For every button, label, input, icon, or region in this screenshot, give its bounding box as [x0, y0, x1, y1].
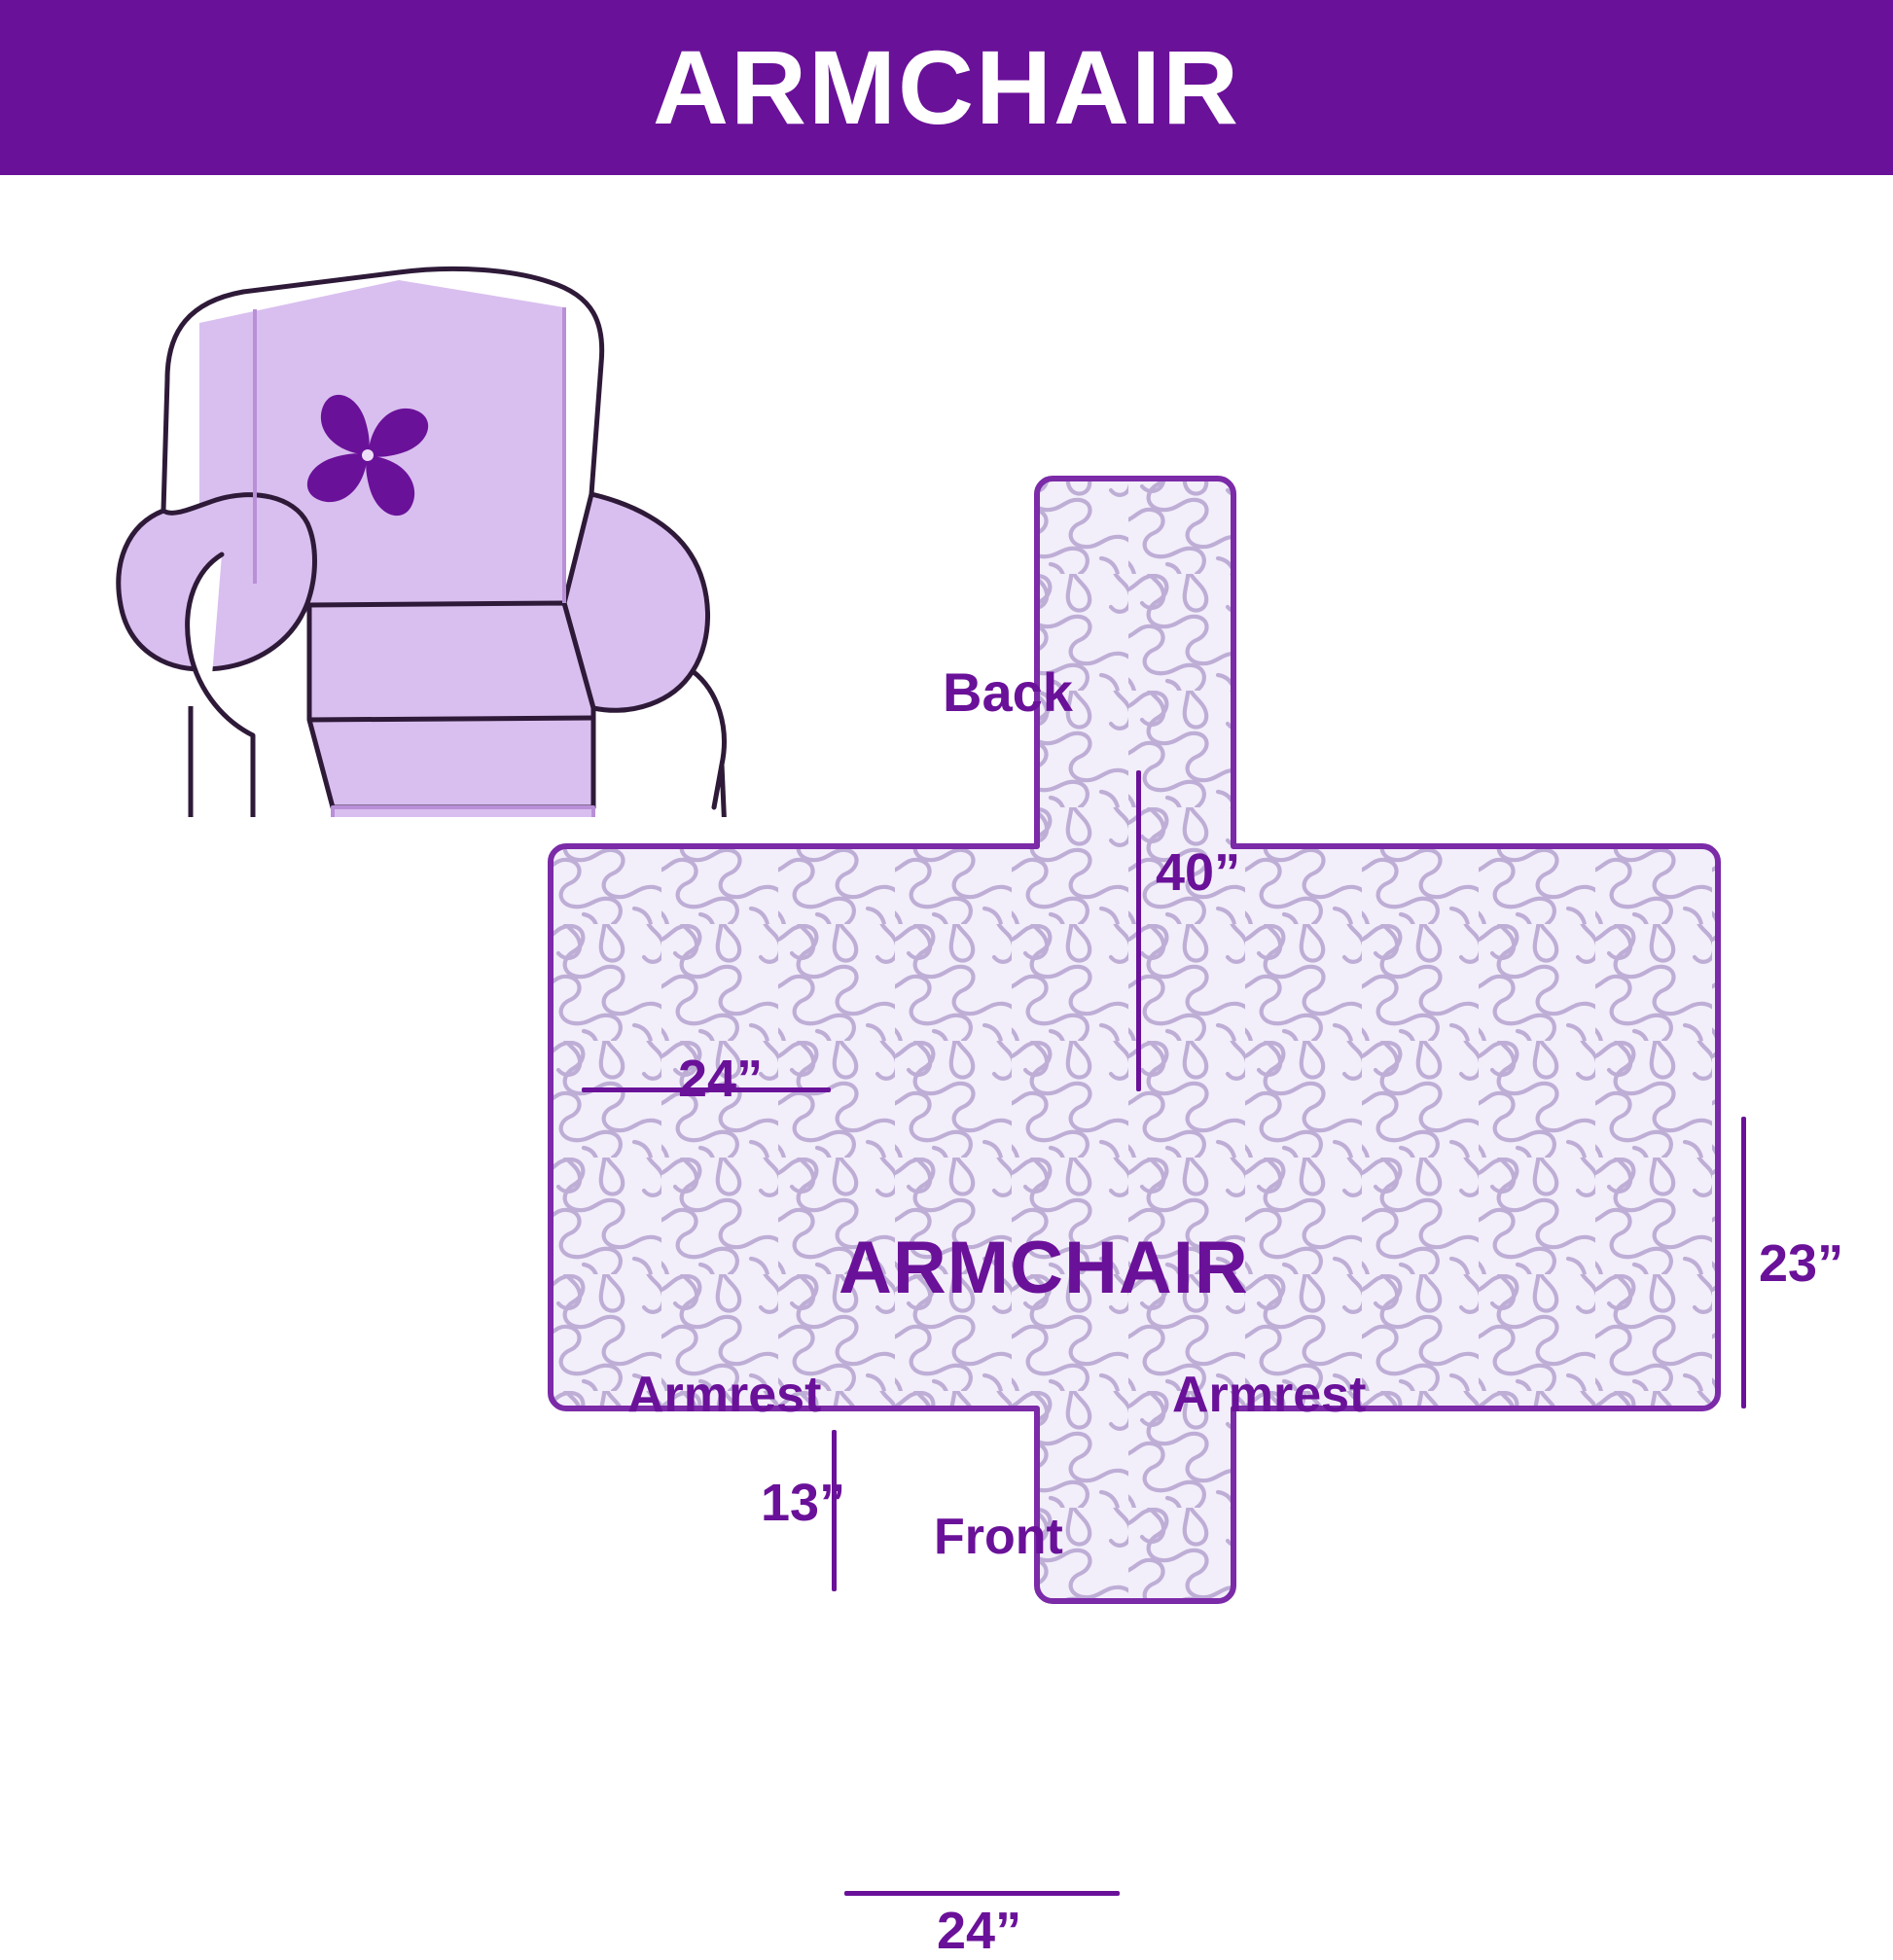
dimension-rule-armrest-depth — [1741, 1117, 1746, 1408]
dimension-label-back-width: 24” — [678, 1052, 763, 1105]
page-title: ARMCHAIR — [653, 35, 1240, 140]
dimension-rule-front-width — [844, 1891, 1120, 1896]
header-banner: ARMCHAIR — [0, 0, 1893, 175]
dimension-rule-back-length — [1136, 770, 1141, 1091]
dimension-label-front-width: 24” — [937, 1905, 1021, 1957]
cover-cross-diagram — [545, 457, 1848, 1838]
panel-label-back: Back — [943, 665, 1073, 720]
panel-label-armrest-right: Armrest — [1172, 1370, 1366, 1420]
panel-label-armrest-left: Armrest — [627, 1370, 821, 1420]
panel-label-front: Front — [934, 1512, 1063, 1562]
diagram-canvas: 40” 24” 23” 13” 24” Back ARMCHAIR Armres… — [0, 175, 1893, 1893]
cover-cross-shape — [551, 479, 1718, 1601]
dimension-label-armrest-depth: 23” — [1759, 1237, 1843, 1290]
dimension-label-back-length: 40” — [1156, 846, 1240, 899]
dimension-label-front-depth: 13” — [761, 1477, 845, 1529]
panel-label-center: ARMCHAIR — [839, 1231, 1249, 1305]
